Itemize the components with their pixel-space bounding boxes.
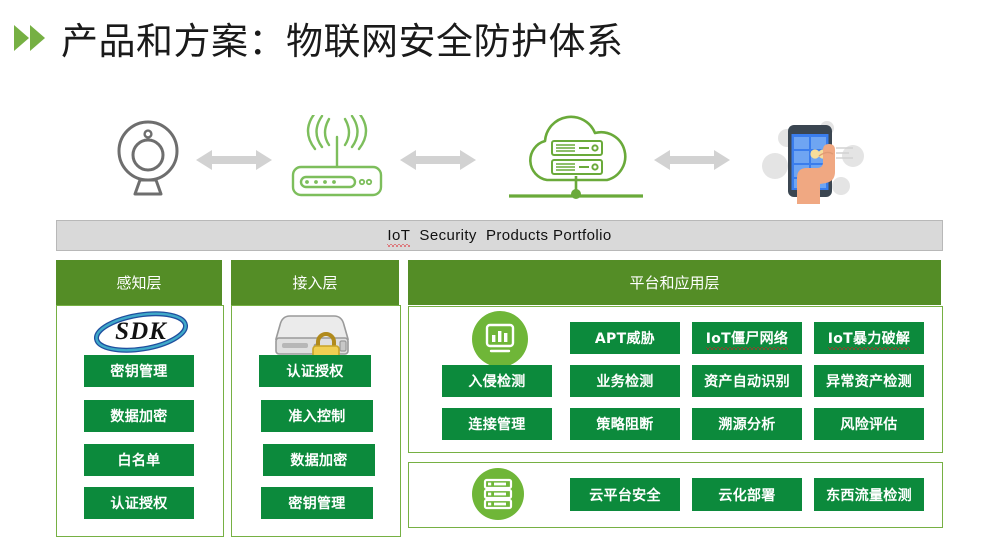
pill-detection-r2-c2[interactable]: 溯源分析: [692, 408, 802, 440]
pill-cloud-c0[interactable]: 云平台安全: [570, 478, 680, 511]
pill-detection-r1-c3[interactable]: 异常资产检测: [814, 365, 924, 397]
pill-access-1[interactable]: 准入控制: [261, 400, 373, 432]
monitor-chart-circle-icon: [472, 311, 528, 367]
pill-label: 数据加密: [290, 450, 347, 470]
pill-detection-r2-c0[interactable]: 连接管理: [442, 408, 552, 440]
pill-label: 策略阻断: [596, 414, 653, 434]
banner-word-products: Products: [486, 227, 548, 244]
double-right-triangle-icon: [14, 25, 45, 51]
arrow-bidirectional-icon: [654, 149, 730, 171]
page-title: 产品和方案：物联网安全防护体系: [61, 11, 624, 65]
pill-label: 资产自动识别: [704, 371, 790, 391]
pill-label: APT威胁: [595, 328, 655, 348]
pill-cloud-c1[interactable]: 云化部署: [692, 478, 802, 511]
pill-perception-2[interactable]: 白名单: [84, 444, 194, 476]
pill-label: 异常资产检测: [826, 371, 912, 391]
hand-smartphone-icon: [756, 105, 874, 210]
pill-detection-r2-c1[interactable]: 策略阻断: [570, 408, 680, 440]
server-stack-circle-icon: [472, 468, 524, 520]
pill-cloud-c2[interactable]: 东西流量检测: [814, 478, 924, 511]
column-header-platform: 平台和应用层: [408, 260, 941, 305]
pill-detection-r1-c0[interactable]: 入侵检测: [442, 365, 552, 397]
cloud-server-icon: [508, 105, 643, 210]
banner-word-iot: IoT: [387, 227, 410, 244]
pill-access-3[interactable]: 密钥管理: [261, 487, 373, 519]
pill-label: 云平台安全: [589, 485, 661, 505]
pill-label: 业务检测: [596, 371, 653, 391]
column-header-access-label: 接入层: [292, 272, 337, 293]
pill-label: 密钥管理: [288, 493, 345, 513]
pill-label: 连接管理: [468, 414, 525, 434]
pill-label: 入侵检测: [468, 371, 525, 391]
pill-label: 溯源分析: [718, 414, 775, 434]
pill-label: 密钥管理: [110, 361, 167, 381]
pill-label: 认证授权: [110, 493, 167, 513]
pill-detection-r0-c1[interactable]: IoT僵尸网络: [692, 322, 802, 354]
portfolio-banner-text: IoT Security Products Portfolio: [387, 227, 611, 244]
pill-detection-r1-c2[interactable]: 资产自动识别: [692, 365, 802, 397]
pill-access-0[interactable]: 认证授权: [259, 355, 371, 387]
pill-label: IoT暴力破解: [828, 328, 910, 348]
banner-word-security: Security: [419, 227, 476, 244]
arrow-bidirectional-icon: [196, 149, 272, 171]
pill-detection-r1-c1[interactable]: 业务检测: [570, 365, 680, 397]
portfolio-banner: IoT Security Products Portfolio: [56, 220, 943, 251]
column-header-platform-label: 平台和应用层: [629, 272, 719, 293]
pill-label: 风险评估: [840, 414, 897, 434]
column-header-perception-label: 感知层: [116, 272, 161, 293]
pill-label: 云化部署: [718, 485, 775, 505]
pill-label: 认证授权: [286, 361, 343, 381]
sdk-logo: SDK: [92, 311, 190, 353]
pill-perception-3[interactable]: 认证授权: [84, 487, 194, 519]
pill-label: 数据加密: [110, 406, 167, 426]
ip-camera-icon: [108, 105, 188, 210]
pill-perception-0[interactable]: 密钥管理: [84, 355, 194, 387]
pill-perception-1[interactable]: 数据加密: [84, 400, 194, 432]
arrow-bidirectional-icon: [400, 149, 476, 171]
pill-label: IoT僵尸网络: [706, 328, 788, 348]
pill-label: 白名单: [118, 450, 161, 470]
pill-label: 准入控制: [288, 406, 345, 426]
column-header-access: 接入层: [231, 260, 399, 305]
pill-detection-r2-c3[interactable]: 风险评估: [814, 408, 924, 440]
pill-detection-r0-c0[interactable]: APT威胁: [570, 322, 680, 354]
wifi-router-icon: [284, 105, 389, 210]
sdk-logo-text: SDK: [92, 311, 190, 353]
pill-access-2[interactable]: 数据加密: [263, 444, 375, 476]
device-flow-diagram: [0, 105, 982, 210]
column-header-perception: 感知层: [56, 260, 222, 305]
pill-detection-r0-c2[interactable]: IoT暴力破解: [814, 322, 924, 354]
pill-label: 东西流量检测: [826, 485, 912, 505]
banner-word-portfolio: Portfolio: [553, 227, 612, 244]
page-title-row: 产品和方案：物联网安全防护体系: [0, 8, 982, 68]
